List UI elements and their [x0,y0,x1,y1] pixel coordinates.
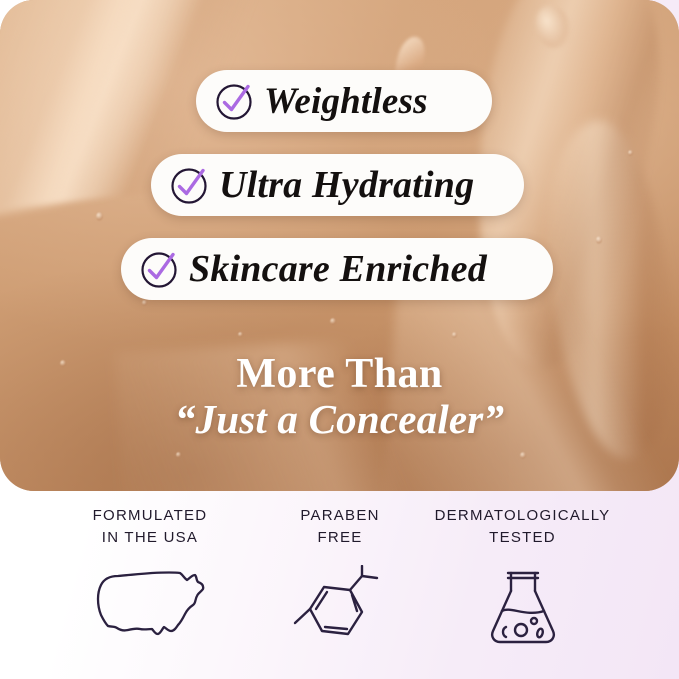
headline: More Than “Just a Concealer” [0,352,679,441]
swatch-speck [238,332,243,337]
swatch-speck [330,318,336,325]
feature-pill-label: Weightless [264,80,428,123]
claim-badge-label: FORMULATED IN THE USA [93,505,208,549]
feature-pill-label: Ultra Hydrating [219,163,474,207]
feature-pill-weightless[interactable]: Weightless [196,70,492,132]
swatch-speck [96,212,103,221]
swatch-speck [142,300,147,306]
swatch-speck [596,236,602,244]
swatch-dab-2 [530,1,576,53]
check-circle-icon [212,78,258,124]
swatch-speck [628,150,633,156]
claim-badge-formulated-in-usa: FORMULATED IN THE USA [40,505,260,649]
feature-pill-label: Skincare Enriched [189,247,487,291]
usa-map-icon [88,565,212,649]
claim-badge-row: FORMULATED IN THE USA PARABEN FREE [0,505,679,679]
swatch-speck [452,332,457,338]
lab-flask-icon [480,565,566,651]
check-circle-icon [167,162,213,208]
check-circle-icon [137,246,183,292]
hero-swatch-panel: Weightless Ultra Hydrating [0,0,679,491]
claim-badge-label: PARABEN FREE [300,505,379,549]
headline-line-1: More Than [0,352,679,397]
product-feature-graphic: Weightless Ultra Hydrating [0,0,679,679]
headline-line-2: “Just a Concealer” [0,397,679,441]
claim-badge-dermatologically-tested: DERMATOLOGICALLY TESTED [400,505,645,651]
feature-pill-ultra-hydrating[interactable]: Ultra Hydrating [151,154,524,216]
swatch-speck [520,452,526,459]
swatch-speck [176,452,181,458]
claim-badge-label: DERMATOLOGICALLY TESTED [435,505,611,549]
feature-pill-skincare-enriched[interactable]: Skincare Enriched [121,238,553,300]
paraben-molecule-icon [290,565,390,651]
